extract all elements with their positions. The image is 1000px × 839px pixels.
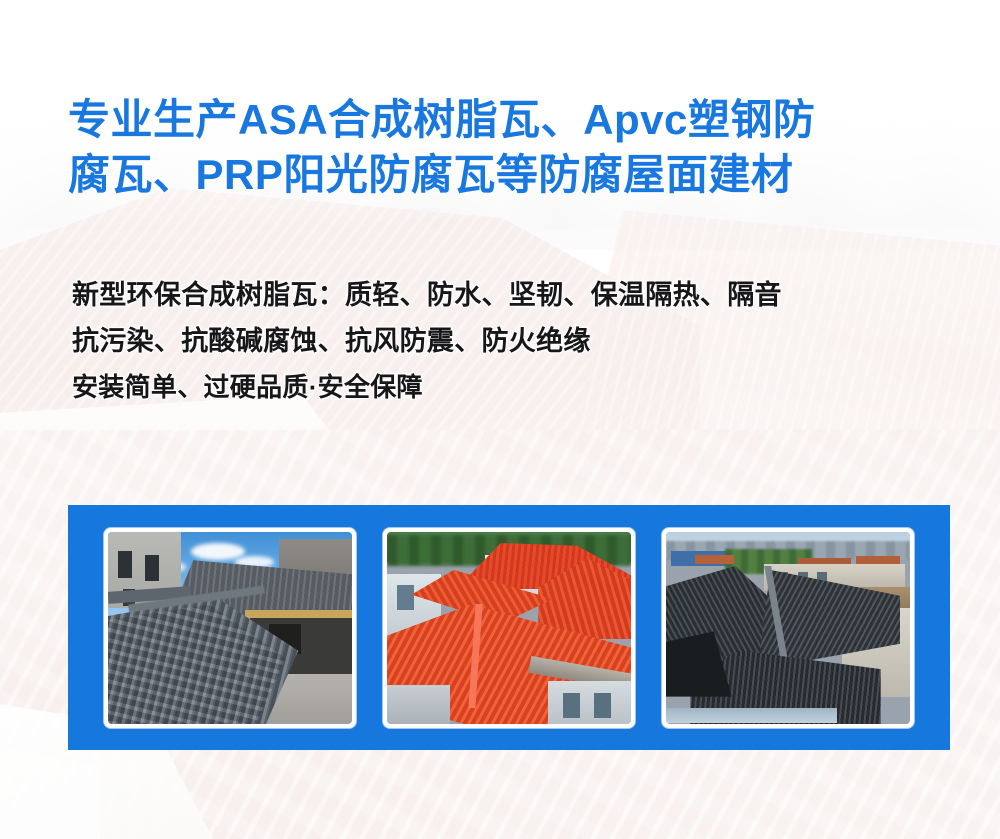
photo2-bottom-left-wall (387, 685, 450, 723)
photo2-window (563, 693, 580, 718)
photo1-window (118, 551, 133, 578)
gallery-photo-2-image (387, 532, 631, 724)
gallery-photo-3[interactable] (662, 528, 914, 728)
photo3-tile-roof (695, 555, 734, 565)
page-subtitle: 新型环保合成树脂瓦：质轻、防水、坚韧、保温隔热、隔音 抗污染、抗酸碱腐蚀、抗风防… (72, 272, 972, 410)
photo2-right-wall (548, 681, 631, 723)
page-subtitle-line-3: 安装简单、过硬品质·安全保障 (72, 364, 972, 410)
gallery-photo-3-image (666, 532, 910, 724)
page-title: 专业生产ASA合成树脂瓦、Apvc塑钢防 腐瓦、PRP阳光防腐瓦等防腐屋面建材 (68, 92, 948, 202)
photo3-foreground (666, 708, 837, 723)
photo1-cloud (191, 543, 245, 560)
photo2-window (594, 693, 611, 718)
gallery-photo-1[interactable] (104, 528, 356, 728)
gallery-photo-2[interactable] (383, 528, 635, 728)
page-title-line-1: 专业生产ASA合成树脂瓦、Apvc塑钢防 (68, 92, 948, 147)
photo2-window (397, 585, 414, 610)
photo-gallery-panel (68, 505, 950, 750)
gallery-photo-1-image (108, 532, 352, 724)
photo1-window (145, 555, 160, 582)
page-subtitle-line-1: 新型环保合成树脂瓦：质轻、防水、坚韧、保温隔热、隔音 (72, 272, 972, 318)
page-subtitle-line-2: 抗污染、抗酸碱腐蚀、抗风防震、防火绝缘 (72, 318, 972, 364)
page-title-line-2: 腐瓦、PRP阳光防腐瓦等防腐屋面建材 (68, 147, 948, 202)
